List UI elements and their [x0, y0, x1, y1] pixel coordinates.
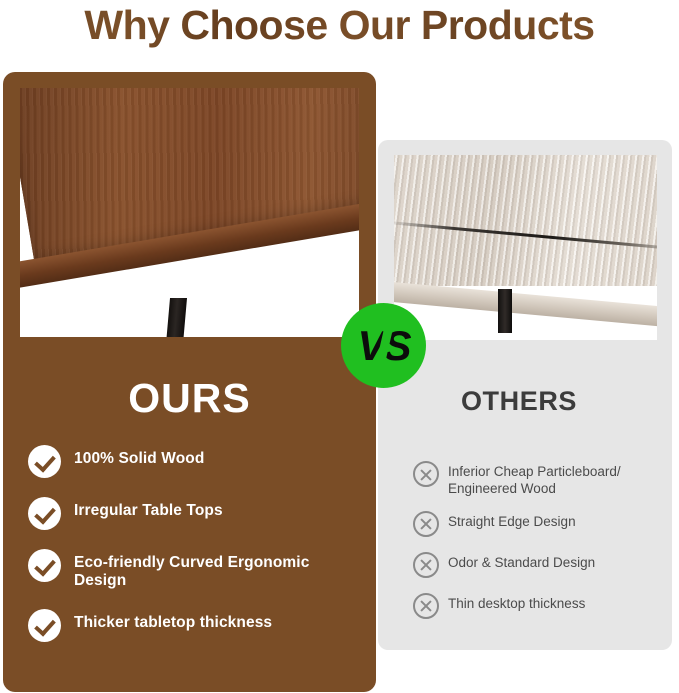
list-item-label: Thin desktop thickness	[448, 593, 585, 613]
laminate-tabletop-edge	[394, 281, 657, 330]
list-item: Inferior Cheap Particleboard/ Engineered…	[413, 461, 663, 498]
table-leg-black	[498, 289, 512, 333]
list-item-label: Straight Edge Design	[448, 511, 576, 531]
laminate-tabletop-surface	[394, 155, 657, 286]
list-item-label: 100% Solid Wood	[74, 445, 204, 468]
list-item: Straight Edge Design	[413, 511, 663, 539]
ours-feature-list: 100% Solid Wood Irregular Table Tops Eco…	[28, 445, 363, 661]
page-title: Why Choose Our Products	[0, 0, 679, 55]
list-item-label: Odor & Standard Design	[448, 552, 595, 572]
check-circle-icon	[28, 497, 61, 530]
check-circle-icon	[28, 549, 61, 582]
table-leg-black	[166, 298, 187, 337]
ours-product-photo	[20, 88, 359, 337]
list-item-label: Irregular Table Tops	[74, 497, 223, 520]
list-item-label: Inferior Cheap Particleboard/ Engineered…	[448, 461, 663, 498]
list-item: Thicker tabletop thickness	[28, 609, 363, 643]
vs-badge: VS	[341, 303, 426, 388]
x-circle-icon	[413, 552, 439, 578]
x-circle-icon	[413, 593, 439, 619]
ours-heading: OURS	[20, 375, 359, 422]
list-item: 100% Solid Wood	[28, 445, 363, 479]
check-circle-icon	[28, 445, 61, 478]
list-item: Eco-friendly Curved Ergonomic Design	[28, 549, 363, 591]
list-item-label: Thicker tabletop thickness	[74, 609, 272, 632]
list-item: Irregular Table Tops	[28, 497, 363, 531]
check-circle-icon	[28, 609, 61, 642]
others-product-photo	[394, 155, 657, 340]
others-heading: OTHERS	[394, 386, 644, 417]
list-item: Thin desktop thickness	[413, 593, 663, 621]
others-feature-list: Inferior Cheap Particleboard/ Engineered…	[413, 461, 663, 634]
x-circle-icon	[413, 511, 439, 537]
list-item: Odor & Standard Design	[413, 552, 663, 580]
list-item-label: Eco-friendly Curved Ergonomic Design	[74, 549, 363, 591]
x-circle-icon	[413, 461, 439, 487]
